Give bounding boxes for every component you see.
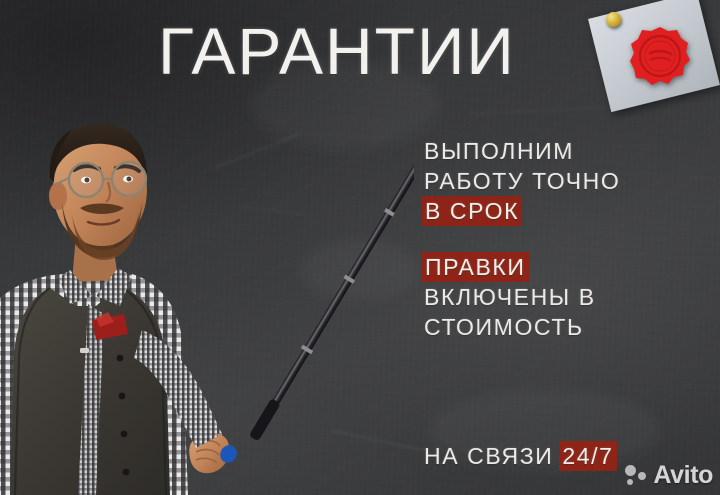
guarantee-line: НА СВЯЗИ 24/7 bbox=[424, 441, 615, 471]
guarantee-list: ВЫПОЛНИМ РАБОТУ ТОЧНО В СРОК ПРАВКИ ВКЛЮ… bbox=[424, 136, 710, 368]
highlight-revisions: ПРАВКИ bbox=[424, 254, 527, 280]
avito-watermark: Avito bbox=[625, 463, 713, 488]
avito-wordmark: Avito bbox=[653, 463, 713, 488]
guarantee-line: СТОИМОСТЬ bbox=[424, 312, 710, 342]
guarantee-line: РАБОТУ ТОЧНО bbox=[424, 166, 710, 196]
wax-seal-icon bbox=[629, 26, 691, 88]
highlight-deadline: В СРОК bbox=[424, 198, 520, 224]
highlight-availability: 24/7 bbox=[561, 443, 614, 469]
pointer-stick bbox=[182, 96, 414, 488]
pushpin-icon bbox=[606, 12, 621, 27]
guarantee-availability: НА СВЯЗИ 24/7 bbox=[424, 441, 615, 471]
guarantee-revisions: ПРАВКИ ВКЛЮЧЕНЫ В СТОИМОСТЬ bbox=[424, 252, 710, 342]
guarantee-deadline: ВЫПОЛНИМ РАБОТУ ТОЧНО В СРОК bbox=[424, 136, 710, 226]
advertisement-image: ГАРАНТИИ bbox=[0, 0, 720, 495]
guarantee-line: ВКЛЮЧЕНЫ В bbox=[424, 282, 710, 312]
guarantee-line: В СРОК bbox=[424, 196, 710, 226]
guarantee-line: ВЫПОЛНИМ bbox=[424, 136, 710, 166]
avito-dots-icon bbox=[625, 464, 651, 488]
guarantee-line: ПРАВКИ bbox=[424, 252, 710, 282]
headline-guarantees: ГАРАНТИИ bbox=[158, 18, 516, 84]
